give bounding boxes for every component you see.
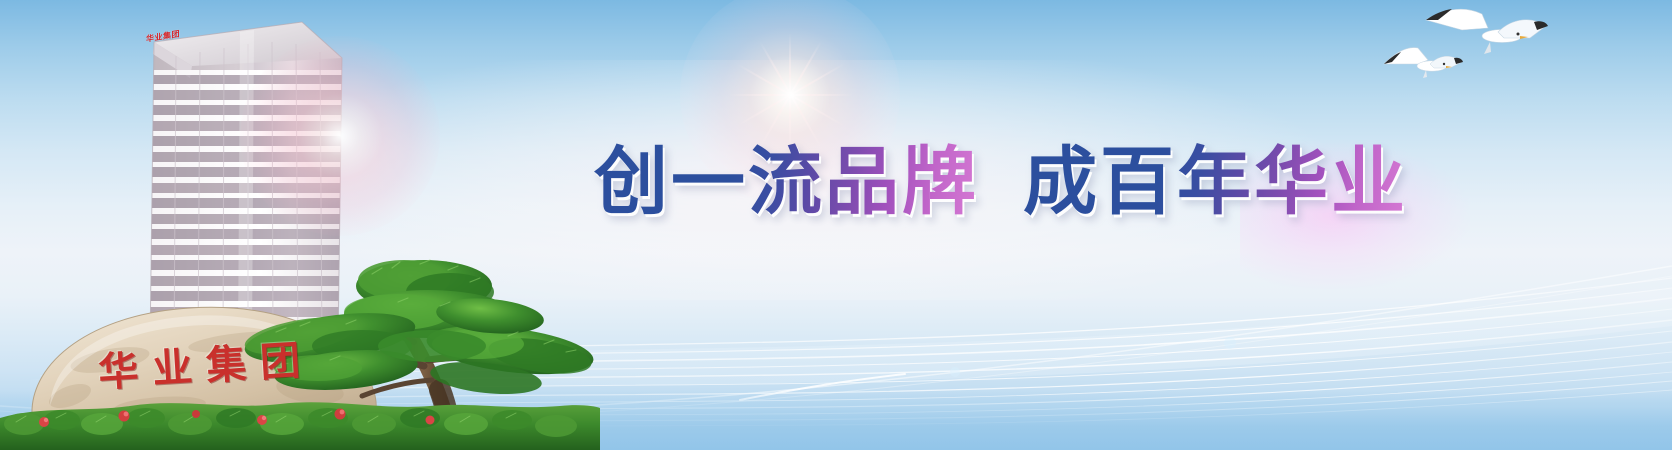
slogan-phrase-1: 创一流品牌 bbox=[594, 122, 979, 229]
seagull-group bbox=[1370, 4, 1580, 124]
hedge-shrubs bbox=[0, 402, 600, 450]
slogan: 创一流品牌 成百年华业 bbox=[594, 129, 1408, 221]
monument-scene bbox=[0, 210, 600, 450]
hero-banner: 华业集团 bbox=[0, 0, 1672, 450]
seagull-icon bbox=[1384, 48, 1463, 78]
seagull-icon bbox=[1426, 9, 1548, 54]
slogan-phrase-2: 成百年华业 bbox=[1023, 122, 1408, 229]
sun-ray-icon bbox=[790, 95, 791, 96]
